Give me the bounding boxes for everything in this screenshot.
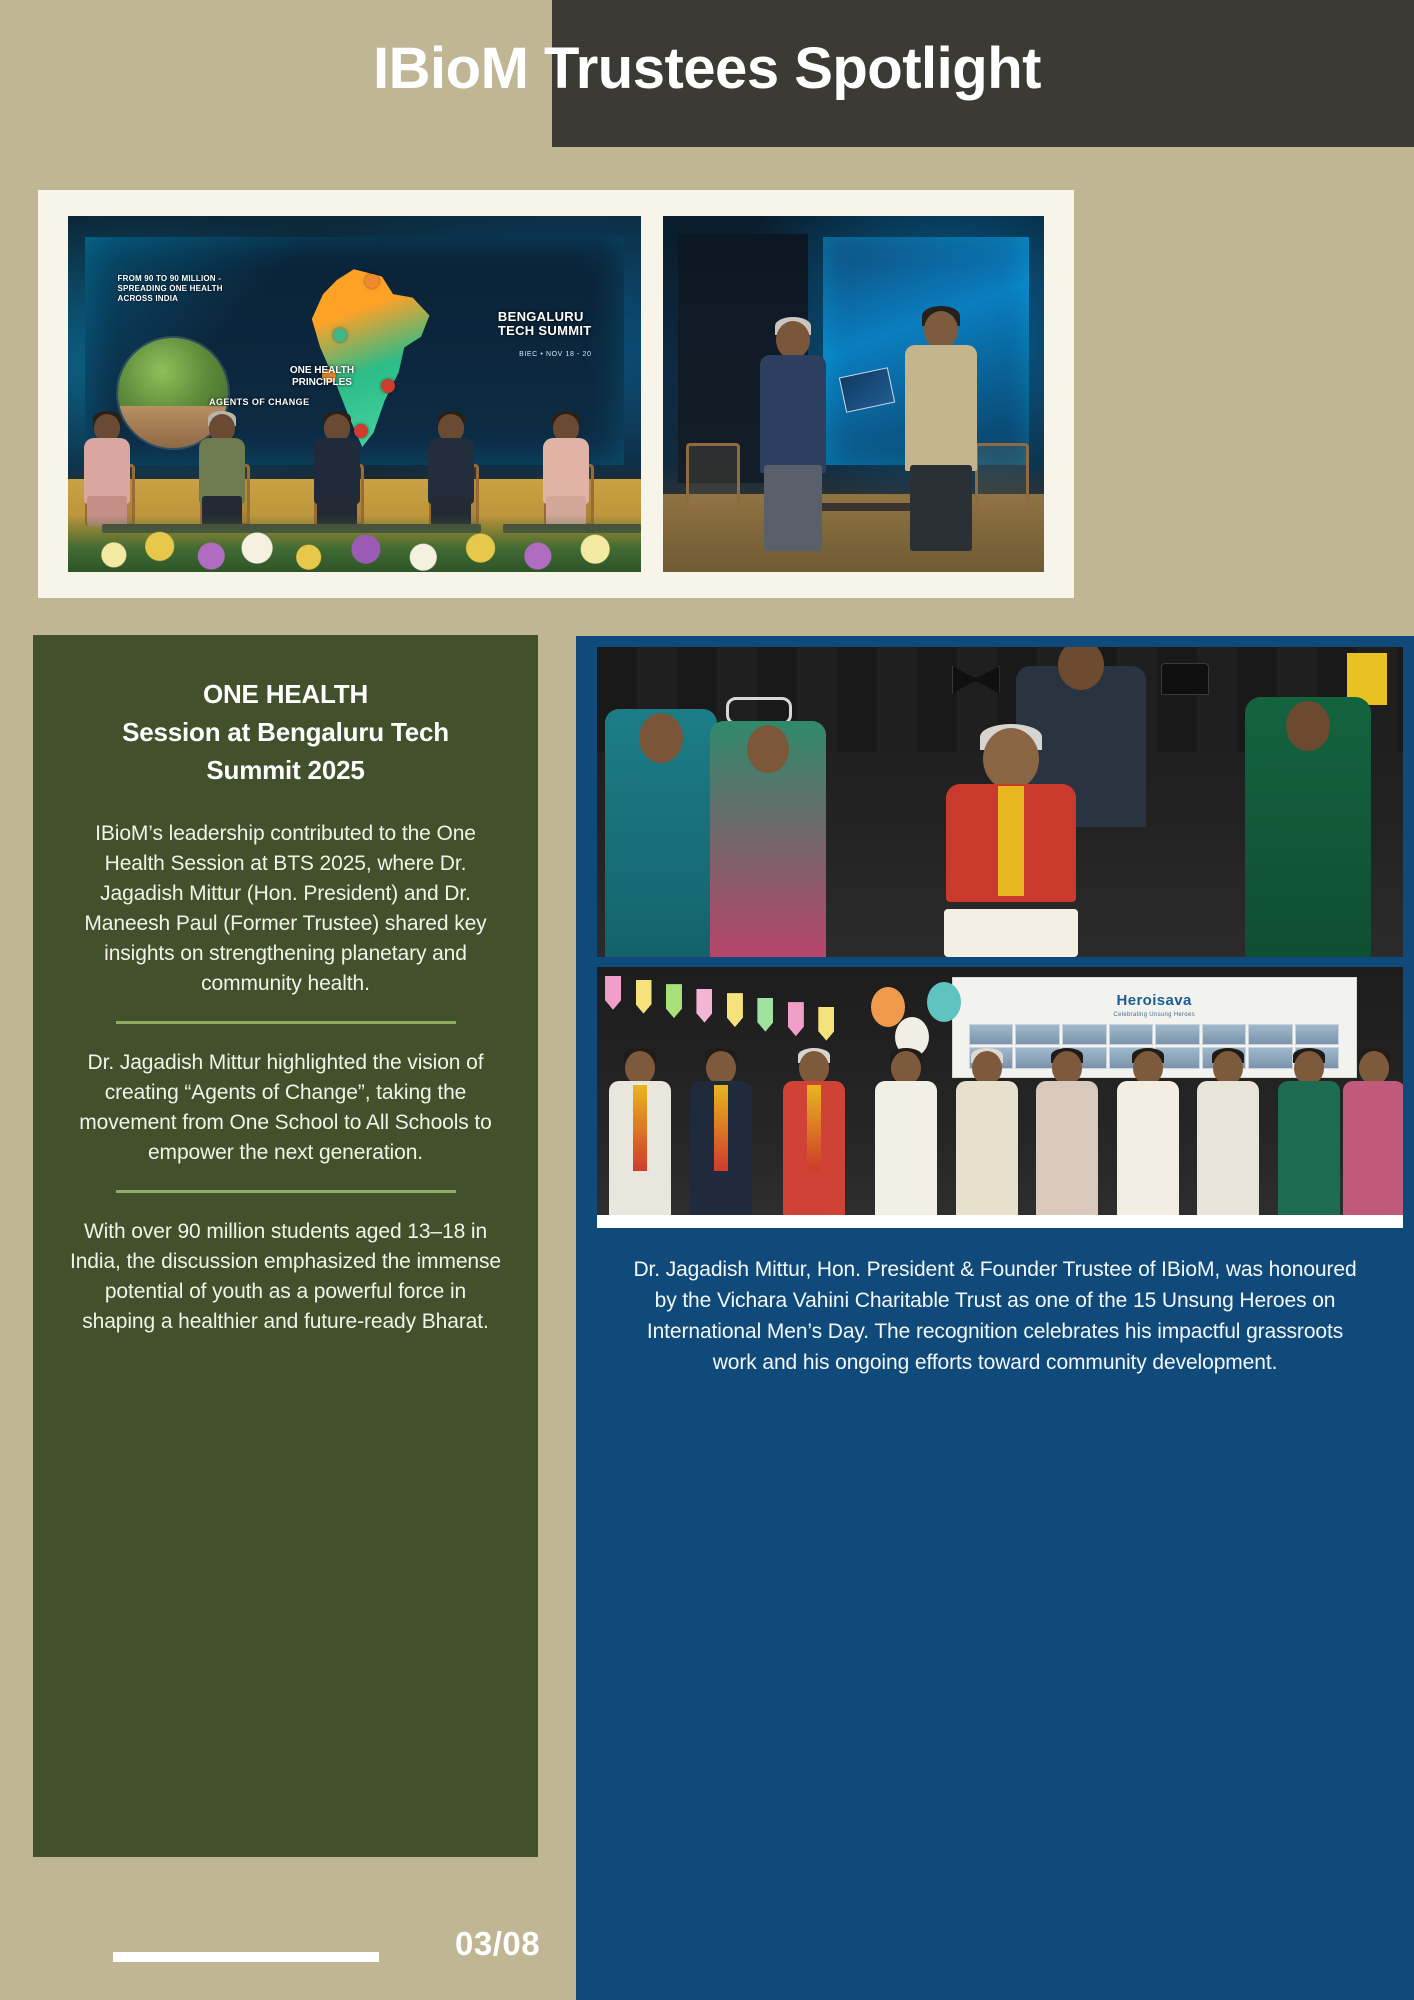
group-member-figure [1193,1051,1263,1215]
honoree-seated-figure [936,728,1086,957]
honoree-face [969,1024,1014,1046]
attendee-figure-green-sari [1245,697,1371,957]
group-member-figure [1339,1051,1403,1215]
stage-chair [686,443,740,511]
attendee-figure-sari [710,721,826,957]
footer-divider-rule [113,1952,379,1962]
panelist-figure [309,414,365,526]
green-paragraph-two: Dr. Jagadish Mittur highlighted the visi… [67,1048,504,1168]
photo-bottom-white-strip [597,1215,1403,1228]
honoree-face [1295,1024,1340,1046]
hat-prop-icon [1161,663,1209,695]
honoree-face [1062,1024,1107,1046]
page-number: 03/08 [455,1925,540,1963]
event-banner-subtitle: Celebrating Unsung Heroes [953,1012,1356,1018]
honoree-face [1109,1024,1154,1046]
group-member-figure [1274,1051,1344,1215]
group-member-figure [605,1051,675,1215]
top-photo-row: FROM 90 TO 90 MILLION - SPREADING ONE HE… [68,216,1044,572]
presenter-figure [754,321,832,551]
heading-line-one: ONE HEALTH [203,679,368,709]
slide-map-label: ONE HEALTH PRINCIPLES [290,365,354,389]
slide-headline-text: FROM 90 TO 90 MILLION - SPREADING ONE HE… [118,274,223,304]
group-member-figure [686,1051,756,1215]
map-dot-icon [381,379,395,393]
green-divider-two [116,1190,456,1193]
green-content-panel: ONE HEALTH Session at Bengaluru Tech Sum… [33,635,538,1857]
panelist-figure [423,414,479,526]
recipient-figure [899,311,983,551]
honoree-face [1015,1024,1060,1046]
group-member-figure [871,1051,941,1215]
group-member-honoree-figure [774,1051,854,1215]
green-divider-one [116,1021,456,1024]
group-member-figure [1113,1051,1183,1215]
panelist-figure [538,414,594,526]
glasses-prop-icon [726,697,792,725]
photo-felicitation [597,647,1403,957]
photo-bts-panel: FROM 90 TO 90 MILLION - SPREADING ONE HE… [68,216,641,572]
flower-decoration [68,515,641,572]
group-member-figure [1032,1051,1102,1215]
photo-group: Heroisava Celebrating Unsung Heroes [597,967,1403,1215]
top-photo-frame: FROM 90 TO 90 MILLION - SPREADING ONE HE… [38,190,1074,598]
heading-line-two: Session at Bengaluru Tech [122,717,449,747]
blue-panel-caption: Dr. Jagadish Mittur, Hon. President & Fo… [597,1228,1403,1378]
poster-page: IBioM Trustees Spotlight FROM 90 TO 90 M… [0,0,1414,2000]
attendee-figure-teal [605,709,717,957]
green-paragraph-one: IBioM’s leadership contributed to the On… [67,819,504,999]
event-banner-title: Heroisava [953,992,1356,1009]
panelist-figure [194,414,250,526]
bts-logo-subtext: BIEC • NOV 18 - 20 [519,351,591,358]
honoree-face [1155,1024,1200,1046]
photo-book-handover [663,216,1044,572]
green-paragraph-three: With over 90 million students aged 13–18… [67,1217,504,1337]
bts-logo-text: BENGALURU TECH SUMMIT [498,310,592,338]
honoree-face [1202,1024,1247,1046]
honoree-face [1248,1024,1293,1046]
balloon-decoration [871,987,905,1027]
group-member-figure [952,1051,1022,1215]
panelist-figure [79,414,135,526]
green-panel-heading: ONE HEALTH Session at Bengaluru Tech Sum… [67,675,504,789]
page-title: IBioM Trustees Spotlight [0,34,1414,104]
slide-agents-of-change-label: AGENTS OF CHANGE [209,397,309,407]
map-dot-icon [365,274,379,288]
heading-line-three: Summit 2025 [206,755,364,785]
blue-content-panel: Heroisava Celebrating Unsung Heroes [576,636,1414,2000]
